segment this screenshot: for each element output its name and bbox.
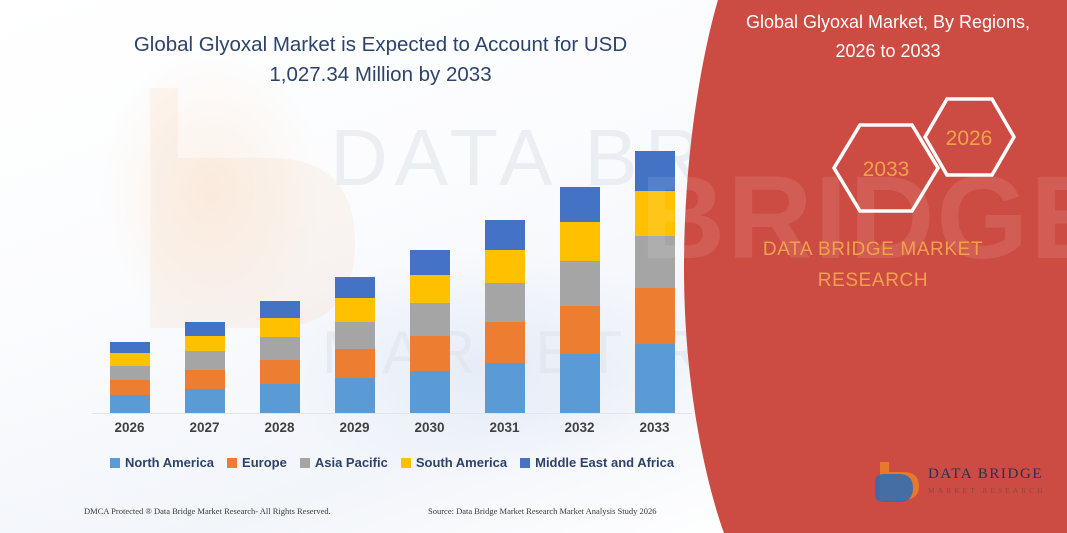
stacked-bar[interactable]	[335, 277, 375, 413]
bar-slot	[392, 120, 467, 413]
bar-segment[interactable]	[410, 250, 450, 275]
x-axis-label: 2029	[317, 420, 392, 435]
logo-mark-icon	[872, 458, 924, 506]
legend-label: South America	[416, 455, 507, 470]
bar-segment[interactable]	[185, 389, 225, 413]
legend-item[interactable]: North America	[110, 455, 214, 470]
brand-name-line2: RESEARCH	[713, 265, 1033, 296]
bar-segment[interactable]	[260, 318, 300, 337]
bar-segment[interactable]	[485, 250, 525, 283]
legend-item[interactable]: Asia Pacific	[300, 455, 388, 470]
legend-item[interactable]: Europe	[227, 455, 287, 470]
bar-slot	[467, 120, 542, 413]
logo-subtitle: MARKET RESEARCH	[928, 486, 1046, 495]
bar-segment[interactable]	[410, 303, 450, 336]
stacked-bar[interactable]	[110, 342, 150, 413]
hexagon-2026-label: 2026	[946, 127, 993, 150]
legend-swatch-icon	[300, 458, 310, 468]
legend-swatch-icon	[110, 458, 120, 468]
stacked-bar[interactable]	[560, 187, 600, 413]
stacked-bar[interactable]	[260, 301, 300, 413]
bar-segment[interactable]	[485, 283, 525, 322]
bar-segment[interactable]	[410, 336, 450, 371]
legend-item[interactable]: South America	[401, 455, 507, 470]
bar-segment[interactable]	[335, 349, 375, 378]
bar-slot	[242, 120, 317, 413]
legend-swatch-icon	[401, 458, 411, 468]
bar-slot	[317, 120, 392, 413]
stacked-bar[interactable]	[410, 250, 450, 413]
legend-label: North America	[125, 455, 214, 470]
bar-segment[interactable]	[560, 261, 600, 306]
x-axis-label: 2026	[92, 420, 167, 435]
logo-name: DATA BRIDGE	[928, 466, 1046, 483]
x-axis-labels: 20262027202820292030203120322033	[92, 420, 692, 435]
footer: DMCA Protected ® Data Bridge Market Rese…	[0, 506, 718, 526]
bar-segment[interactable]	[560, 354, 600, 413]
bar-segment[interactable]	[110, 366, 150, 380]
x-axis-label: 2030	[392, 420, 467, 435]
brand-panel: BRIDGE Global Glyoxal Market, By Regions…	[640, 0, 1067, 533]
legend-label: Asia Pacific	[315, 455, 388, 470]
stacked-bar-series	[92, 120, 692, 413]
stacked-bar[interactable]	[485, 220, 525, 413]
x-axis-label: 2031	[467, 420, 542, 435]
bar-slot	[167, 120, 242, 413]
bar-segment[interactable]	[560, 222, 600, 261]
bar-segment[interactable]	[260, 360, 300, 384]
bar-segment[interactable]	[110, 380, 150, 395]
legend-swatch-icon	[227, 458, 237, 468]
brand-name-line1: DATA BRIDGE MARKET	[713, 234, 1033, 265]
company-logo: DATA BRIDGE MARKET RESEARCH	[872, 458, 1057, 510]
bar-segment[interactable]	[410, 275, 450, 303]
x-axis-label: 2032	[542, 420, 617, 435]
bar-segment[interactable]	[110, 342, 150, 353]
bar-slot	[542, 120, 617, 413]
bar-segment[interactable]	[260, 337, 300, 360]
bar-segment[interactable]	[335, 322, 375, 349]
logo-text: DATA BRIDGE MARKET RESEARCH	[928, 466, 1046, 495]
chart-legend: North AmericaEuropeAsia PacificSouth Ame…	[92, 455, 692, 470]
footer-copyright: DMCA Protected ® Data Bridge Market Rese…	[84, 506, 331, 516]
infographic-slide: DATA BRIDGE MARKET RESEARCH Global Glyox…	[0, 0, 1067, 533]
bar-segment[interactable]	[260, 384, 300, 413]
hexagon-badges: 2026 2033	[820, 95, 1040, 220]
brand-name: DATA BRIDGE MARKET RESEARCH	[713, 234, 1033, 296]
bar-segment[interactable]	[560, 187, 600, 222]
bar-segment[interactable]	[110, 353, 150, 365]
brand-panel-title: Global Glyoxal Market, By Regions, 2026 …	[728, 8, 1048, 66]
bar-segment[interactable]	[185, 336, 225, 352]
stacked-bar[interactable]	[185, 322, 225, 413]
bar-segment[interactable]	[485, 322, 525, 363]
brand-panel-content: BRIDGE Global Glyoxal Market, By Regions…	[640, 0, 1067, 533]
bar-segment[interactable]	[260, 301, 300, 319]
chart-title: Global Glyoxal Market is Expected to Acc…	[108, 30, 653, 90]
x-axis-label: 2027	[167, 420, 242, 435]
bar-segment[interactable]	[185, 322, 225, 336]
legend-label: Europe	[242, 455, 287, 470]
footer-source: Source: Data Bridge Market Research Mark…	[428, 506, 657, 516]
bar-segment[interactable]	[335, 378, 375, 413]
x-axis-line	[92, 413, 692, 414]
bar-segment[interactable]	[110, 395, 150, 413]
bar-segment[interactable]	[185, 351, 225, 369]
x-axis-label: 2028	[242, 420, 317, 435]
legend-swatch-icon	[520, 458, 530, 468]
hexagon-2033-label: 2033	[863, 158, 910, 181]
bar-slot	[92, 120, 167, 413]
bar-segment[interactable]	[485, 220, 525, 250]
bar-segment[interactable]	[185, 370, 225, 389]
bar-segment[interactable]	[560, 306, 600, 354]
bar-segment[interactable]	[335, 277, 375, 298]
bar-segment[interactable]	[410, 371, 450, 413]
bar-segment[interactable]	[485, 363, 525, 413]
bar-segment[interactable]	[335, 298, 375, 322]
